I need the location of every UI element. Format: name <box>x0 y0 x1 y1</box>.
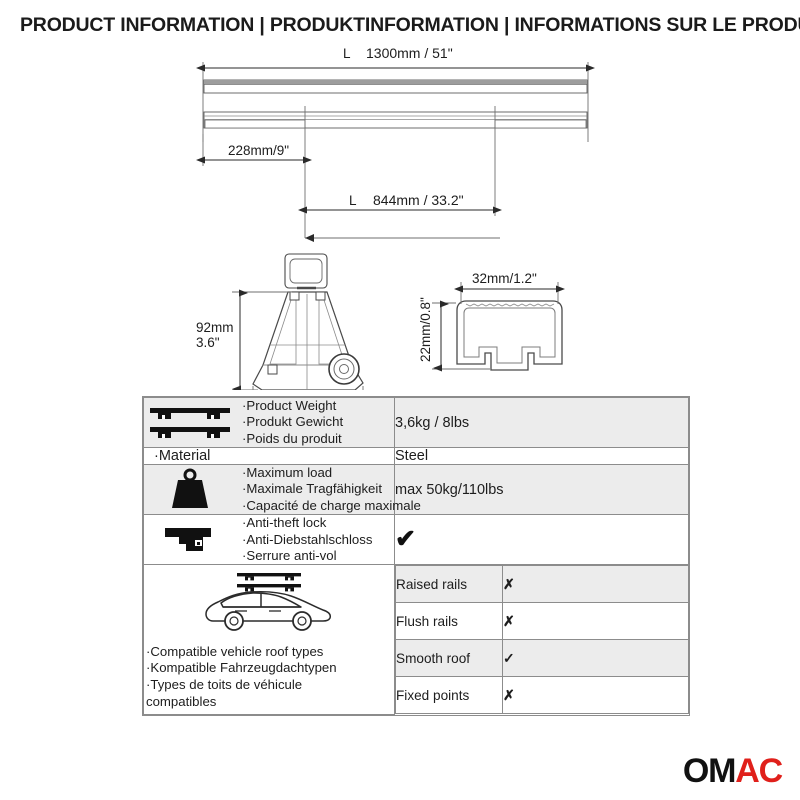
technical-drawing: L 1300mm / 51" 228mm/9" L 844mm / 33.2" … <box>0 42 800 390</box>
page-title: PRODUCT INFORMATION | PRODUKTINFORMATION… <box>20 14 786 37</box>
table-row: ·Compatible vehicle roof types ·Kompatib… <box>144 565 689 715</box>
bar-length-value: 1300mm / 51" <box>366 45 453 61</box>
compatibility-label-text: ·Compatible vehicle roof types ·Kompatib… <box>144 644 394 711</box>
spec-label-line: ·Serrure anti-vol <box>242 548 394 564</box>
spec-label-material: ·Material <box>144 448 394 464</box>
compat-label-line: ·Types de toits de véhicule <box>146 677 394 694</box>
profile-cross-section <box>457 301 562 370</box>
spec-label-line: ·Produkt Gewicht <box>242 414 394 430</box>
cross-icon: ✗ <box>503 603 689 640</box>
spec-label-text: ·Product Weight ·Produkt Gewicht ·Poids … <box>242 398 394 447</box>
crossbar-top-view <box>204 112 587 128</box>
compat-name: Fixed points <box>396 677 503 714</box>
spec-label-text: ·Anti-theft lock ·Anti-Diebstahlschloss … <box>242 515 394 564</box>
spec-value-maximum-load: max 50kg/110lbs <box>395 465 689 515</box>
spec-label-cell: ·Material <box>144 448 395 465</box>
compat-row-smooth-roof: Smooth roof ✓ <box>396 640 689 677</box>
compat-name: Raised rails <box>396 566 503 603</box>
compat-label-line: ·Kompatible Fahrzeugdachtypen <box>146 660 394 677</box>
foot-height-line2: 3.6" <box>196 335 220 350</box>
table-row: ·Maximum load ·Maximale Tragfähigkeit ·C… <box>144 465 689 515</box>
lock-icon <box>144 522 236 558</box>
spec-value-product-weight: 3,6kg / 8lbs <box>395 398 689 448</box>
check-icon: ✔ <box>395 527 416 552</box>
car-with-rack-icon <box>144 569 394 640</box>
bar-length-prefix: L <box>343 46 351 61</box>
spec-label-line: ·Product Weight <box>242 398 394 414</box>
spec-label-line: ·Anti-theft lock <box>242 515 394 531</box>
compat-name: Smooth roof <box>396 640 503 677</box>
check-icon: ✓ <box>503 640 689 677</box>
foot-offset-label: 228mm/9" <box>228 143 289 158</box>
spec-label-line: ·Capacité de charge maximale <box>242 498 421 514</box>
specification-table: ·Product Weight ·Produkt Gewicht ·Poids … <box>142 396 690 716</box>
table-row: ·Product Weight ·Produkt Gewicht ·Poids … <box>144 398 689 448</box>
crossbar-side-view <box>204 80 587 93</box>
crossbars-icon <box>144 402 236 444</box>
cross-icon: ✗ <box>503 677 689 714</box>
spec-value-material: Steel <box>395 448 689 465</box>
profile-height-label: 22mm/0.8" <box>418 297 433 362</box>
cross-icon: ✗ <box>503 566 689 603</box>
compat-label-line: compatibles <box>146 694 394 711</box>
span-value: 844mm / 33.2" <box>373 192 464 208</box>
logo-text-dark: OM <box>683 752 735 790</box>
compat-row-flush-rails: Flush rails ✗ <box>396 603 689 640</box>
foot-height-line1: 92mm <box>196 320 234 335</box>
compat-row-fixed-points: Fixed points ✗ <box>396 677 689 714</box>
spec-label-cell: ·Product Weight ·Produkt Gewicht ·Poids … <box>144 398 395 448</box>
spec-label-line: ·Anti-Diebstahlschloss <box>242 532 394 548</box>
table-row: ·Material Steel <box>144 448 689 465</box>
spec-label-line: ·Poids du produit <box>242 431 394 447</box>
compat-name: Flush rails <box>396 603 503 640</box>
profile-width-label: 32mm/1.2" <box>472 271 537 286</box>
table-row: ·Anti-theft lock ·Anti-Diebstahlschloss … <box>144 515 689 565</box>
logo-text-red: AC <box>735 752 782 790</box>
spec-label-line: ·Maximum load <box>242 465 421 481</box>
spec-label-cell: ·Anti-theft lock ·Anti-Diebstahlschloss … <box>144 515 395 565</box>
omac-logo: OMAC <box>683 754 782 788</box>
span-prefix: L <box>349 193 357 208</box>
compat-label-line: ·Compatible vehicle roof types <box>146 644 394 661</box>
compat-row-raised-rails: Raised rails ✗ <box>396 566 689 603</box>
compatibility-options-cell: Raised rails ✗ Flush rails ✗ Smooth roof… <box>395 565 689 715</box>
spec-value-anti-theft-lock: ✔ <box>395 515 689 565</box>
tower-front-view <box>253 254 363 390</box>
weight-icon <box>144 468 236 512</box>
spec-label-cell: ·Maximum load ·Maximale Tragfähigkeit ·C… <box>144 465 395 515</box>
compatibility-label-cell: ·Compatible vehicle roof types ·Kompatib… <box>144 565 395 715</box>
